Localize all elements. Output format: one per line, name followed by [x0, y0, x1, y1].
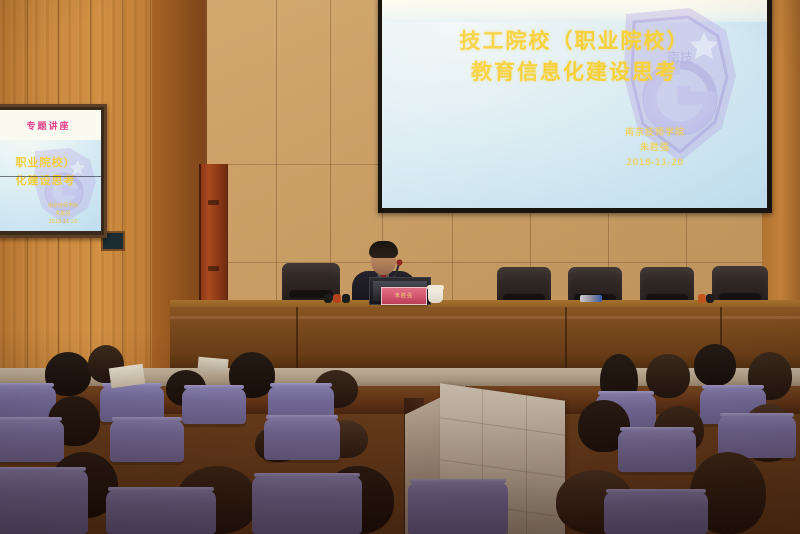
monitor-org: 南京技师学院 — [33, 202, 93, 210]
audience-seat — [604, 492, 708, 534]
audience-head — [694, 344, 736, 386]
slide-subtitle: 南京技师学院 朱胜强 2018-11-20 — [579, 126, 731, 171]
audience-seat — [0, 470, 88, 534]
monitor-title-line2: 化建设思考 — [0, 172, 101, 190]
audience-seat — [110, 420, 184, 462]
audience-seat — [0, 420, 64, 462]
desk-clip — [580, 295, 602, 302]
monitor-title: 职业院校） 化建设思考 — [0, 154, 101, 190]
audience-seat — [182, 388, 246, 424]
slide-title-line1: 技工院校（职业院校） — [382, 26, 767, 57]
table-mic-pod — [698, 294, 706, 303]
monitor-title-line1: 职业院校） — [0, 154, 101, 172]
teacup — [428, 288, 443, 303]
slide-org: 南京技师学院 — [579, 126, 731, 141]
audience-seat — [408, 482, 508, 534]
speaker-hair — [369, 241, 398, 258]
monitor-header-text: 专题讲座 — [0, 119, 97, 132]
table-mic-pod — [706, 294, 714, 303]
slide-title-line2: 教育信息化建设思考 — [382, 57, 767, 88]
handout-paper — [197, 357, 228, 374]
monitor-scan-line — [0, 176, 101, 177]
monitor-date: 2018-11-20 — [33, 218, 93, 226]
monitor-presenter: 朱胜强 — [33, 210, 93, 218]
nameplate-text: 朱胜强 — [382, 288, 426, 304]
nameplate: 朱胜强 — [381, 287, 427, 305]
audience-seat — [618, 430, 696, 472]
side-monitor: 专题讲座 职业院校） 化建设思考 南京技师学院 朱胜强 2018-11-20 — [0, 104, 107, 238]
audience-seat — [106, 490, 216, 534]
lecture-hall-photo: 南技 技工院校（职业院校） 教育信息化建设思考 南京技师学院 朱胜强 2018-… — [0, 0, 800, 534]
slide-presenter: 朱胜强 — [579, 141, 731, 156]
audience-seat — [264, 418, 340, 460]
projection-screen-frame: 南技 技工院校（职业院校） 教育信息化建设思考 南京技师学院 朱胜强 2018-… — [378, 0, 772, 213]
projection-screen: 南技 技工院校（职业院校） 教育信息化建设思考 南京技师学院 朱胜强 2018-… — [382, 0, 767, 208]
audience-seat — [252, 476, 362, 534]
slide-title: 技工院校（职业院校） 教育信息化建设思考 — [382, 26, 767, 88]
monitor-subtitle: 南京技师学院 朱胜强 2018-11-20 — [33, 202, 93, 226]
microphone-base — [324, 294, 350, 303]
slide-date: 2018-11-20 — [579, 156, 731, 171]
side-monitor-screen: 专题讲座 职业院校） 化建设思考 南京技师学院 朱胜强 2018-11-20 — [0, 110, 101, 231]
